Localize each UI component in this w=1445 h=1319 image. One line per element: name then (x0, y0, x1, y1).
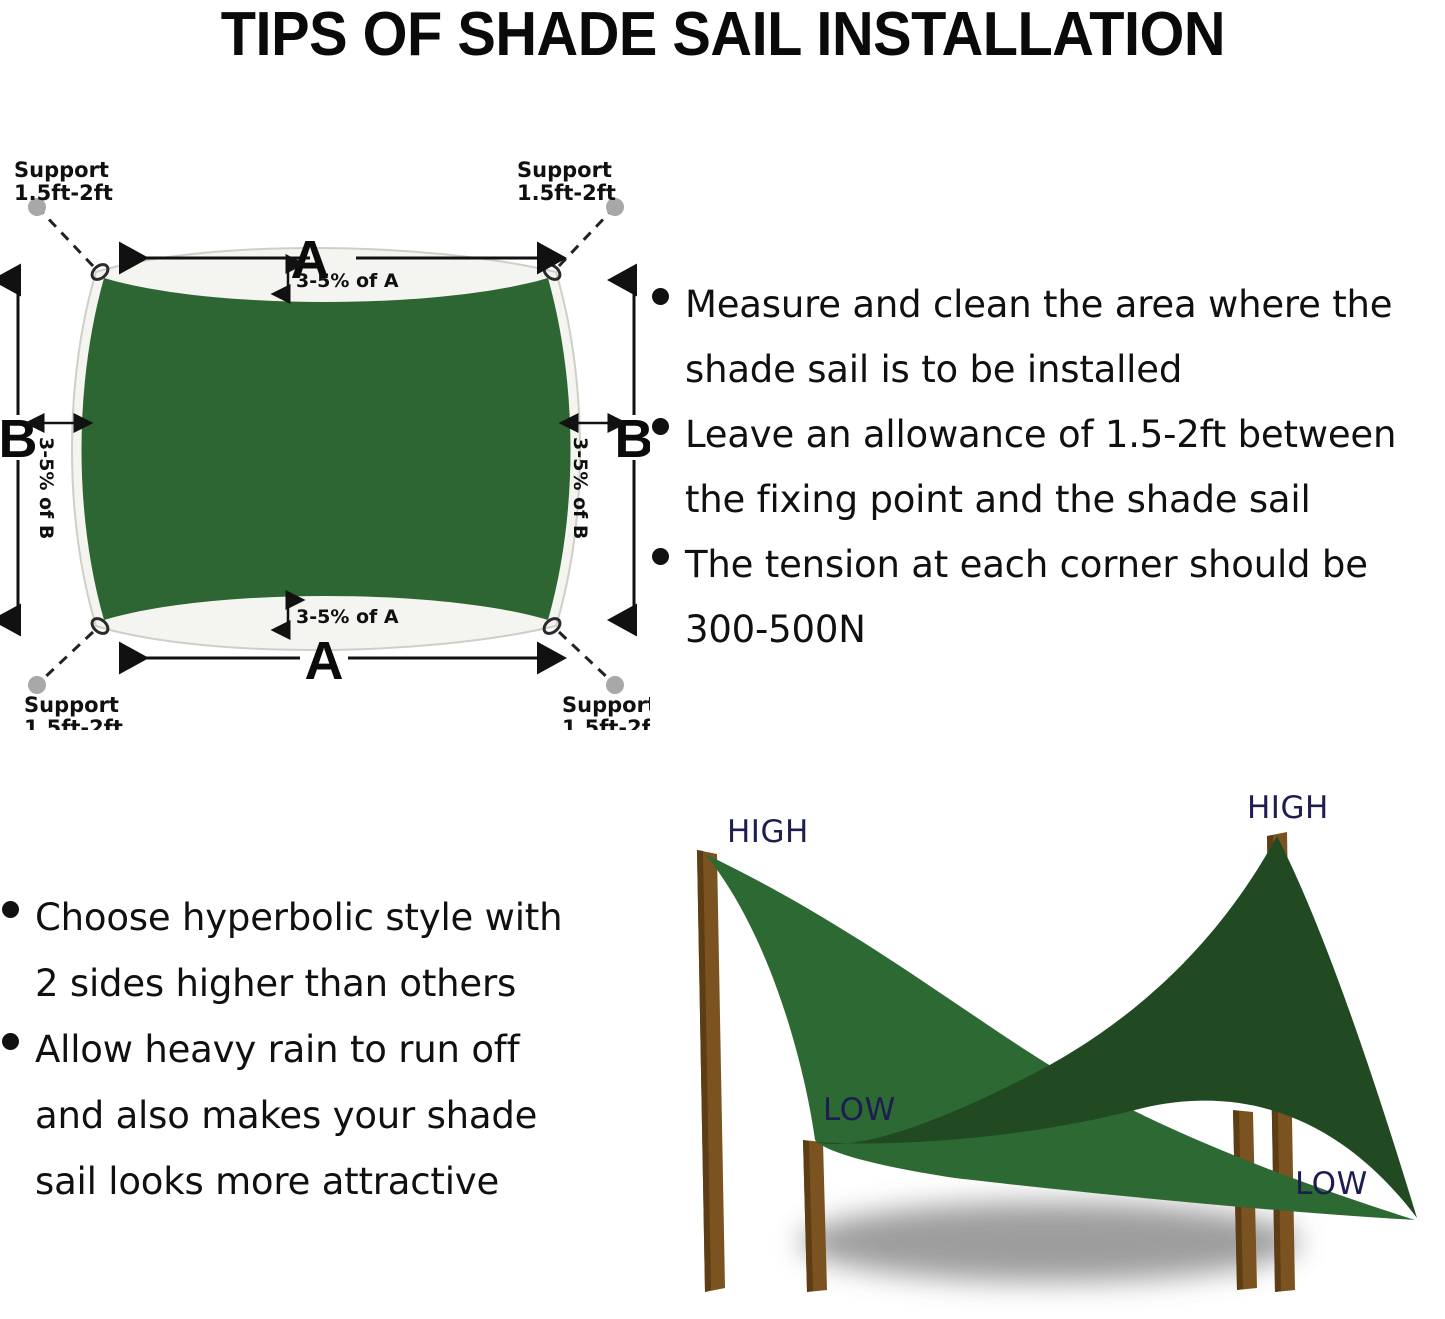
support-label-top-left: Support 1.5ft-2ft (14, 160, 113, 205)
list-item-line: the fixing point and the shade sail (685, 467, 1396, 532)
support-label-line2: 1.5ft-2ft (517, 181, 616, 205)
rectangular-sail-diagram: Support 1.5ft-2ft Support 1.5ft-2ft Supp… (0, 160, 650, 730)
list-item-line: 2 sides higher than others (35, 951, 562, 1017)
support-label-line2: 1.5ft-2ft (24, 716, 123, 730)
support-label-line1: Support (24, 693, 119, 717)
label-low-left: LOW (823, 1092, 896, 1128)
bullet-dot-icon (2, 1033, 19, 1050)
list-item-line: The tension at each corner should be (685, 532, 1368, 597)
list-item: Allow heavy rain to run off and also mak… (2, 1017, 642, 1215)
label-low-right: LOW (1295, 1166, 1368, 1202)
hyperbolic-sail-diagram: HIGH HIGH LOW LOW (655, 780, 1445, 1319)
ground-shadow (800, 1202, 1300, 1282)
support-label-line1: Support (14, 160, 109, 182)
hyperbolic-tips-list: Choose hyperbolic style with 2 sides hig… (2, 885, 642, 1215)
infographic-page: TIPS OF SHADE SAIL INSTALLATION (0, 0, 1445, 1319)
support-label-bottom-right: Support 1.5ft-2ft (562, 693, 650, 730)
support-label-line1: Support (517, 160, 612, 182)
list-item: Leave an allowance of 1.5-2ft between th… (652, 402, 1445, 532)
bullet-dot-icon (652, 548, 669, 565)
list-item: Measure and clean the area where the sha… (652, 272, 1445, 402)
curvature-label-bottom: 3-5% of A (296, 606, 399, 628)
list-item-line: Allow heavy rain to run off (35, 1017, 537, 1083)
curvature-label-right: 3-5% of B (569, 437, 591, 539)
list-item: Choose hyperbolic style with 2 sides hig… (2, 885, 642, 1017)
post-low-left (803, 1140, 827, 1292)
bullet-dot-icon (652, 288, 669, 305)
list-item-line: sail looks more attractive (35, 1149, 537, 1215)
list-item-line: 300-500N (685, 597, 1368, 662)
support-label-bottom-left: Support 1.5ft-2ft (24, 693, 123, 730)
list-item-line: Leave an allowance of 1.5-2ft between (685, 402, 1396, 467)
dimension-label-a-bottom: A (305, 631, 344, 691)
list-item-text: Allow heavy rain to run off and also mak… (35, 1017, 537, 1215)
curvature-label-left: 3-5% of B (35, 437, 57, 539)
installation-tips-list: Measure and clean the area where the sha… (652, 272, 1445, 662)
page-title: TIPS OF SHADE SAIL INSTALLATION (220, 4, 1224, 66)
list-item-line: Measure and clean the area where the (685, 272, 1392, 337)
curvature-label-top: 3-5% of A (296, 270, 399, 292)
bullet-dot-icon (2, 901, 19, 918)
dimension-label-b-right: B (615, 409, 651, 469)
sail-fabric (82, 278, 571, 620)
list-item-line: Choose hyperbolic style with (35, 885, 562, 951)
support-label-line1: Support (562, 693, 650, 717)
list-item-text: Measure and clean the area where the sha… (685, 272, 1392, 402)
list-item-line: shade sail is to be installed (685, 337, 1392, 402)
support-label-line2: 1.5ft-2ft (562, 716, 650, 730)
bullet-dot-icon (652, 418, 669, 435)
list-item-text: Leave an allowance of 1.5-2ft between th… (685, 402, 1396, 532)
list-item-text: Choose hyperbolic style with 2 sides hig… (35, 885, 562, 1017)
title-bar: TIPS OF SHADE SAIL INSTALLATION (0, 0, 1445, 70)
post-high-left (697, 850, 725, 1292)
label-high-left: HIGH (727, 814, 809, 850)
list-item-text: The tension at each corner should be 300… (685, 532, 1368, 662)
label-high-right: HIGH (1247, 790, 1329, 826)
support-label-line2: 1.5ft-2ft (14, 181, 113, 205)
list-item-line: and also makes your shade (35, 1083, 537, 1149)
dimension-label-b-left: B (0, 409, 38, 469)
support-label-top-right: Support 1.5ft-2ft (517, 160, 616, 205)
list-item: The tension at each corner should be 300… (652, 532, 1445, 662)
